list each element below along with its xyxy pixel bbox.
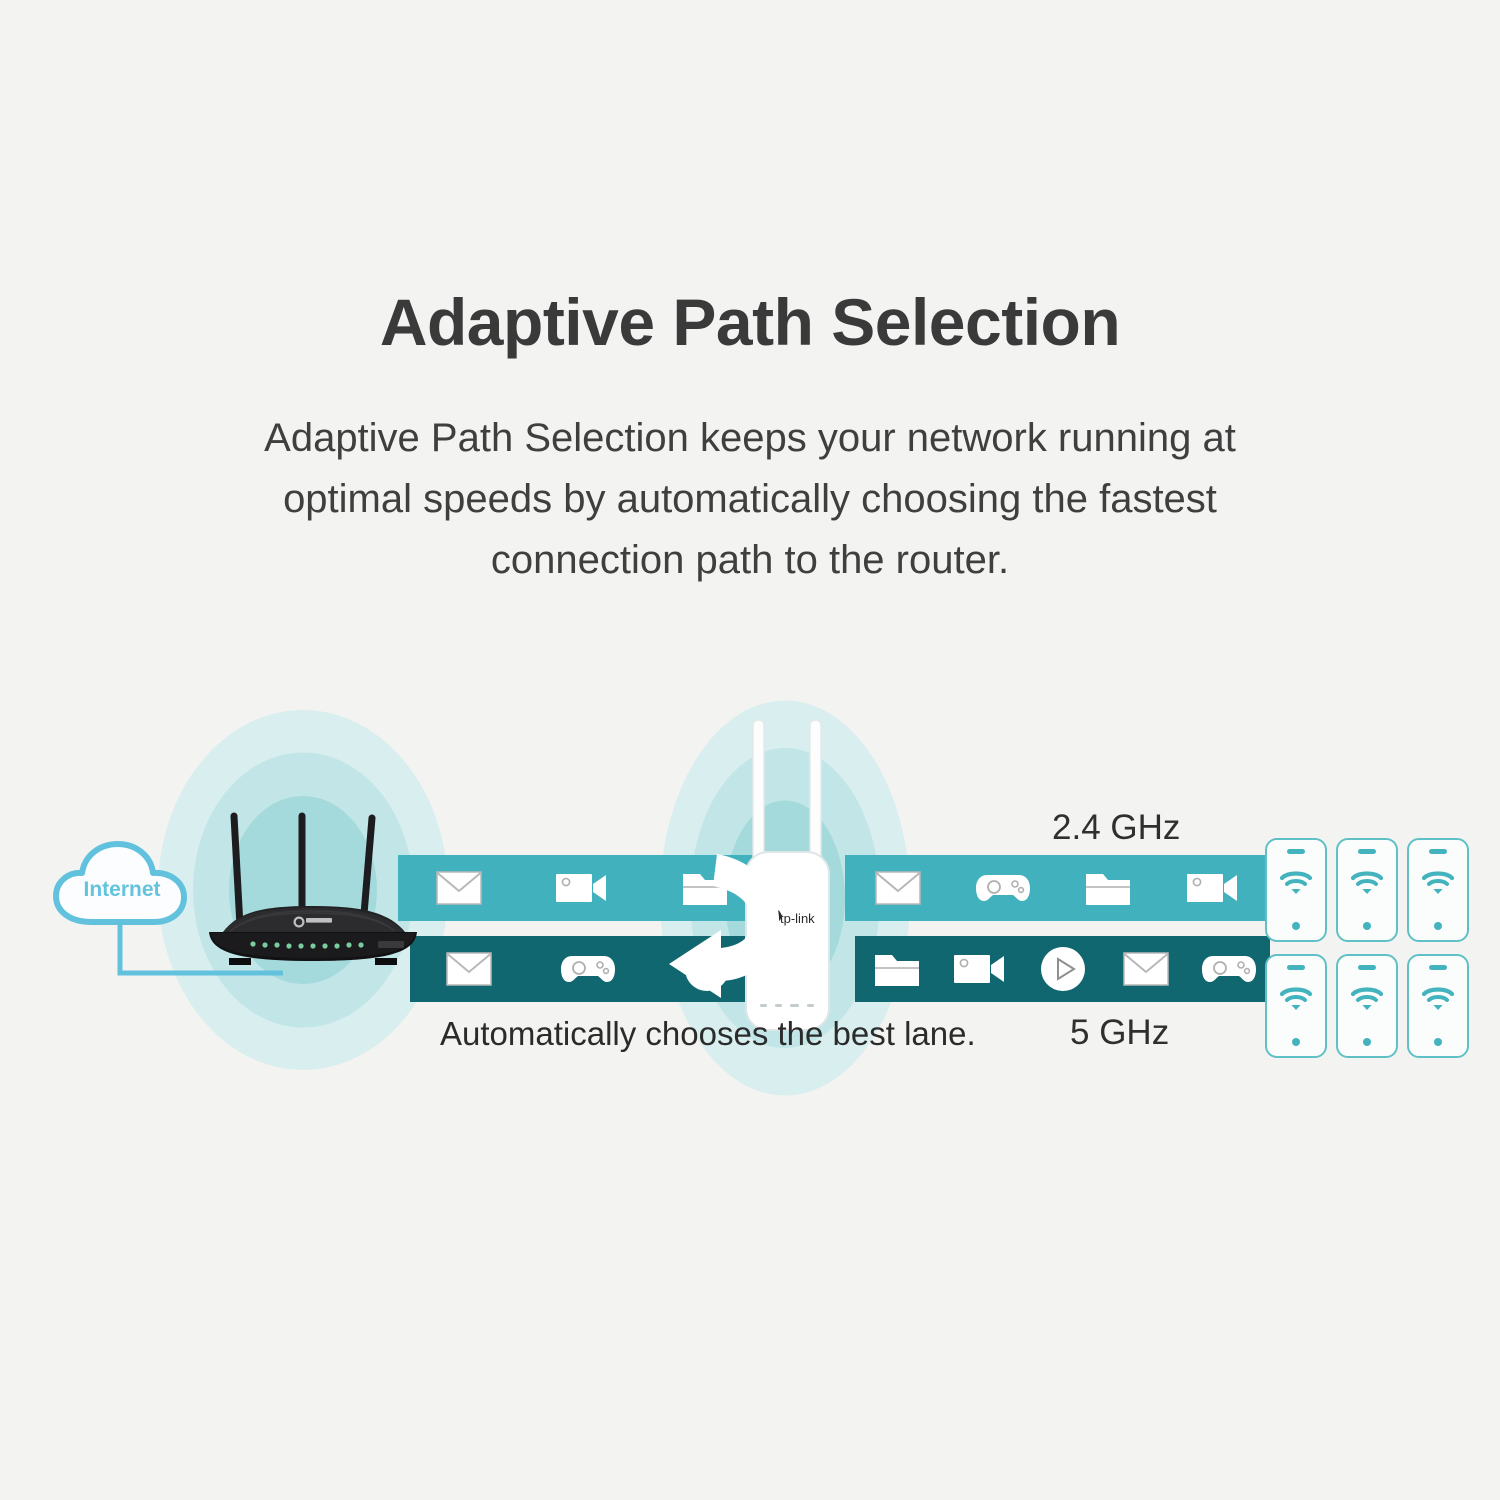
band-label-5ghz: 5 GHz <box>1070 1013 1169 1053</box>
video-camera-icon <box>521 870 644 906</box>
earpiece-slot <box>1287 849 1305 854</box>
earpiece-slot <box>1287 965 1305 970</box>
wifi-icon <box>1421 870 1455 901</box>
page-description: Adaptive Path Selection keeps your netwo… <box>250 408 1250 590</box>
wifi-icon <box>1279 870 1313 901</box>
earpiece-slot <box>1358 849 1376 854</box>
client-device <box>1265 954 1327 1058</box>
u-turn-arrow-icon <box>655 848 790 998</box>
wifi-icon <box>1350 870 1384 901</box>
wifi-icon <box>1279 986 1313 1017</box>
gamepad-icon <box>529 952 648 986</box>
gamepad-icon <box>950 871 1055 905</box>
home-button <box>1434 922 1442 930</box>
band-label-2-4ghz: 2.4 GHz <box>1052 808 1180 848</box>
wifi-icon <box>1350 986 1384 1017</box>
earpiece-slot <box>1429 965 1447 970</box>
play-circle-icon <box>1021 946 1104 992</box>
video-camera-icon <box>938 951 1021 987</box>
home-button <box>1434 1038 1442 1046</box>
client-device <box>1336 838 1398 942</box>
lane-5ghz-right <box>855 936 1270 1002</box>
wireless-router <box>193 808 433 968</box>
gamepad-icon <box>1187 952 1270 986</box>
client-device <box>1407 838 1469 942</box>
mail-icon <box>845 871 950 905</box>
mail-icon <box>1104 952 1187 986</box>
client-device <box>1336 954 1398 1058</box>
page-title: Adaptive Path Selection <box>0 288 1500 357</box>
wifi-icon <box>1421 986 1455 1017</box>
folder-icon <box>855 950 938 988</box>
home-button <box>1292 922 1300 930</box>
client-device-grid <box>1265 838 1480 1066</box>
folder-icon <box>1055 869 1160 907</box>
earpiece-slot <box>1358 965 1376 970</box>
earpiece-slot <box>1429 849 1447 854</box>
home-button <box>1363 1038 1371 1046</box>
client-device <box>1407 954 1469 1058</box>
video-camera-icon <box>1160 870 1265 906</box>
adaptive-path-diagram: Internet <box>0 690 1500 1130</box>
lane-2-4ghz-right <box>845 855 1265 921</box>
client-device <box>1265 838 1327 942</box>
diagram-caption: Automatically chooses the best lane. <box>440 1015 976 1053</box>
internet-cloud-icon <box>52 840 192 945</box>
home-button <box>1363 922 1371 930</box>
infographic-page: Adaptive Path Selection Adaptive Path Se… <box>0 0 1500 1500</box>
home-button <box>1292 1038 1300 1046</box>
